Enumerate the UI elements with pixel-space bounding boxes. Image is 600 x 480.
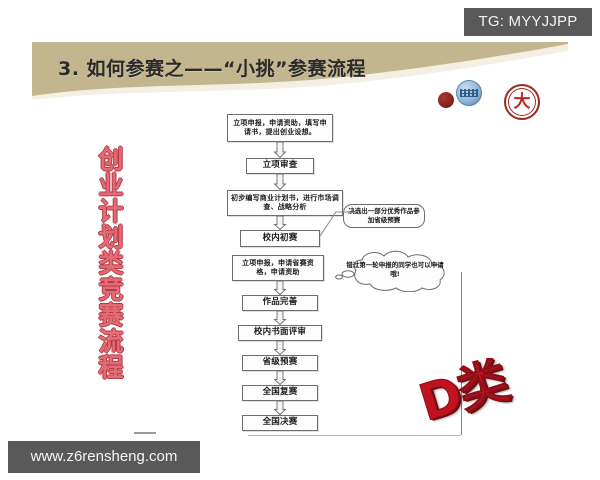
flow-node-provincial-preliminary: 省级预赛 (242, 355, 318, 371)
university-seal-glyph: 大 (506, 86, 538, 118)
flow-node-work-refinement: 作品完善 (242, 295, 318, 311)
bottom-baseline-tick (134, 432, 156, 434)
flow-arrow-7 (274, 371, 286, 385)
flow-arrow-4 (274, 281, 286, 295)
flow-node-project-application: 立项申报，申请资助，填写申请书，提出创业设想。 (227, 114, 333, 142)
slide-canvas: TG: MYYJJPP 3. 如何参赛之——“小挑”参赛流程 大 创业计划类竞赛… (0, 0, 600, 480)
site-watermark: www.z6rensheng.com (8, 441, 200, 473)
flow-node-campus-preliminary: 校内初赛 (240, 230, 320, 247)
flow-arrow-2 (274, 174, 286, 190)
flow-arrow-6 (274, 341, 286, 355)
flow-arrow-1 (274, 142, 286, 158)
flow-arrow-8 (274, 401, 286, 415)
tg-tag: TG: MYYJJPP (464, 8, 592, 36)
page-title: 3. 如何参赛之——“小挑”参赛流程 (58, 54, 366, 81)
blue-circle-logo (456, 80, 482, 106)
university-seal-logo: 大 (504, 84, 540, 120)
callout-missed-first-round: 错过第一轮申报的同学也可以申请哦! (332, 248, 458, 292)
flow-arrow-5 (274, 311, 286, 325)
flow-node-provincial-qualification: 立项申报，申请省赛资格，申请资助 (232, 255, 324, 281)
red-dot-logo (438, 92, 454, 108)
callout-leader-line-1 (318, 210, 358, 242)
flow-node-national-semifinal: 全国复赛 (242, 385, 318, 401)
flow-arrow-3 (274, 216, 286, 230)
flow-node-project-review: 立项审查 (246, 158, 314, 174)
bottom-baseline (248, 435, 461, 436)
flow-node-campus-written-review: 校内书面评审 (238, 325, 322, 341)
side-vertical-title: 创业计划类竞赛流程 (82, 146, 122, 380)
cloud-callout-text: 错过第一轮申报的同学也可以申请哦! (332, 248, 458, 292)
flow-node-national-final: 全国决赛 (242, 415, 318, 431)
